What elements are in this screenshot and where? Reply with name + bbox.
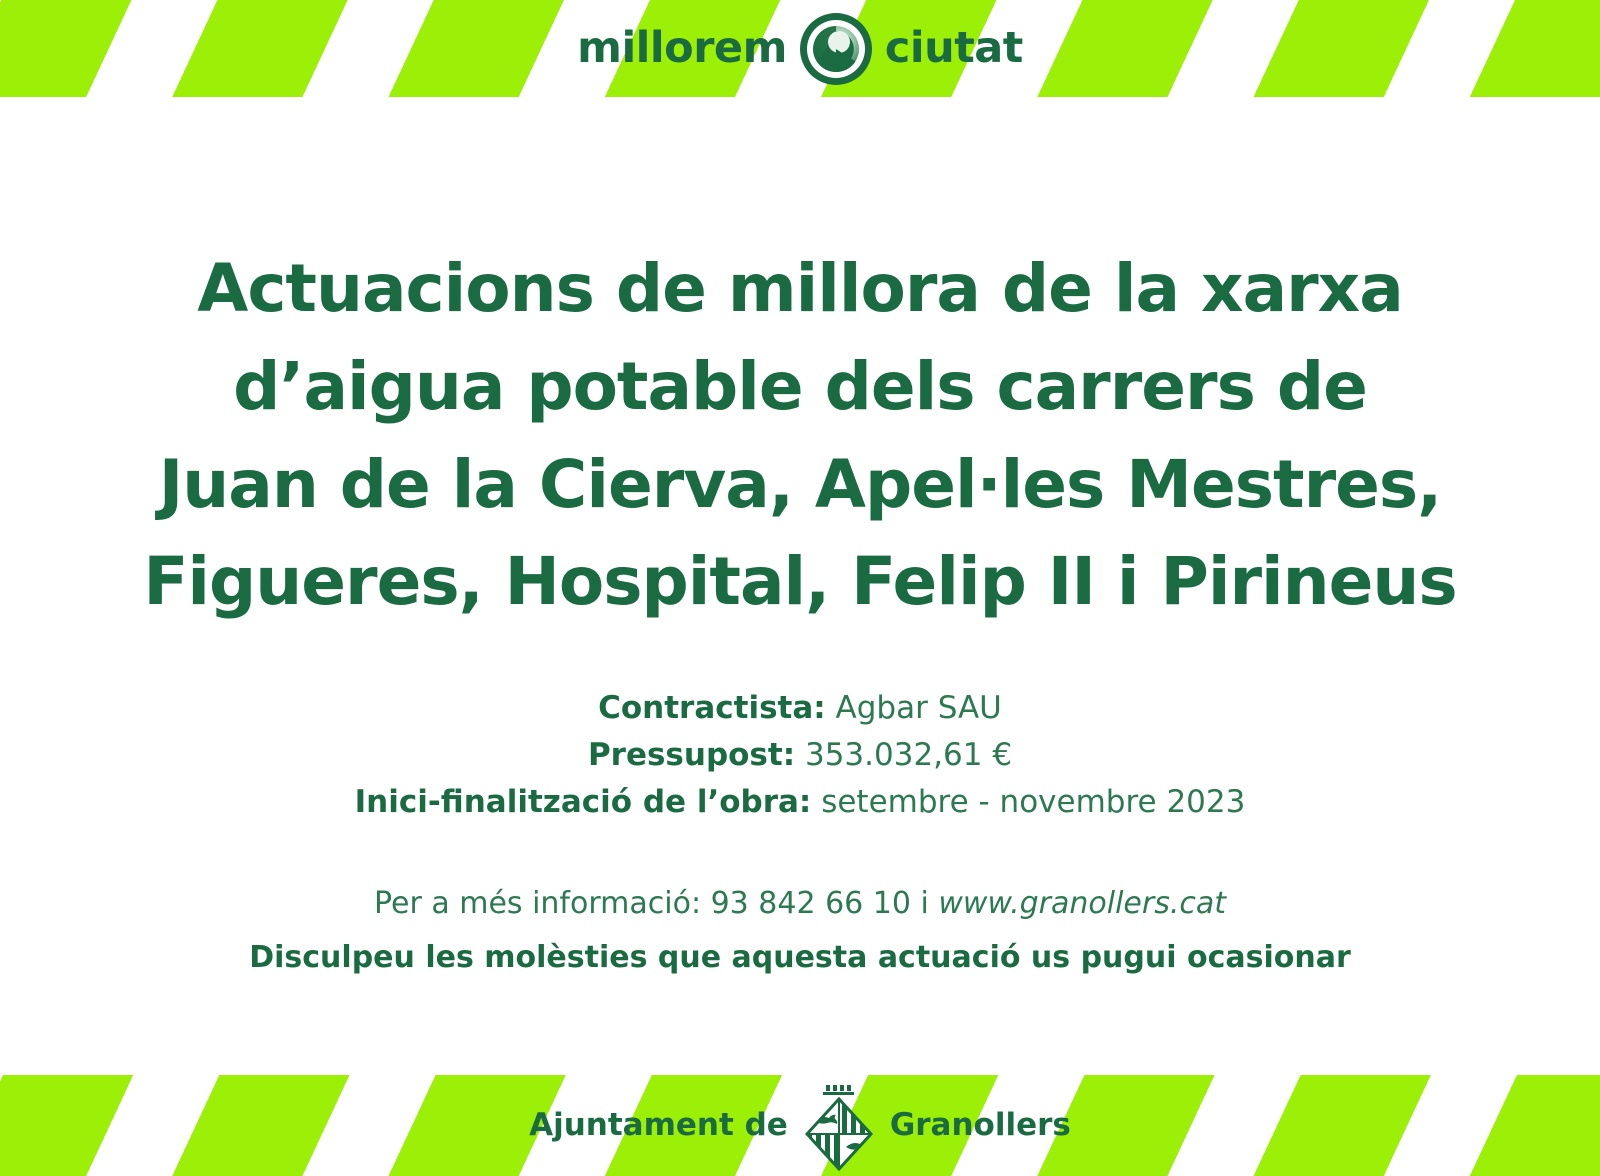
detail-label-budget: Pressupost:: [588, 737, 795, 773]
headline-line-1: Actuacions de millora de la xarxa: [60, 240, 1540, 338]
detail-row-contractor: Contractista: Agbar SAU: [60, 685, 1540, 732]
project-details: Contractista: Agbar SAU Pressupost: 353.…: [60, 685, 1540, 826]
contact-prefix-text: Per a més informació: 93 842 66 10 i: [374, 886, 938, 921]
headline-line-3: Juan de la Cierva, Apel·les Mestres,: [60, 436, 1540, 534]
headline-line-4: Figueres, Hospital, Felip II i Pirineus: [60, 533, 1540, 631]
page-title: Actuacions de millora de la xarxa d’aigu…: [60, 240, 1540, 631]
detail-value-dates: setembre - novembre 2023: [821, 784, 1245, 820]
ajuntament-granollers-logo: Ajuntament de: [0, 1075, 1600, 1176]
footer-word-granollers: Granollers: [890, 1110, 1071, 1141]
detail-row-dates: Inici-finalització de l’obra: setembre -…: [60, 779, 1540, 826]
circular-c-mark-icon: [799, 12, 873, 86]
website-link[interactable]: www.granollers.cat: [938, 886, 1226, 921]
apology-line: Disculpeu les molèsties que aquesta actu…: [60, 934, 1540, 982]
granollers-coat-of-arms-icon: [802, 1081, 876, 1171]
poster-canvas: millorem ciutat: [0, 0, 1600, 1176]
detail-label-dates: Inici-finalització de l’obra:: [355, 784, 812, 820]
millorem-ciutat-logo: millorem ciutat: [0, 0, 1600, 97]
logo-word-ciutat: ciutat: [885, 27, 1023, 70]
logo-word-millorem: millorem: [577, 27, 787, 70]
footer-word-ajuntament: Ajuntament de: [529, 1110, 788, 1141]
contact-line: Per a més informació: 93 842 66 10 i www…: [60, 880, 1540, 928]
contact-information: Per a més informació: 93 842 66 10 i www…: [60, 880, 1540, 982]
detail-value-contractor: Agbar SAU: [836, 690, 1002, 726]
detail-row-budget: Pressupost: 353.032,61 €: [60, 732, 1540, 779]
detail-value-budget: 353.032,61 €: [805, 737, 1012, 773]
headline-line-2: d’aigua potable dels carrers de: [60, 338, 1540, 436]
detail-label-contractor: Contractista:: [598, 690, 826, 726]
